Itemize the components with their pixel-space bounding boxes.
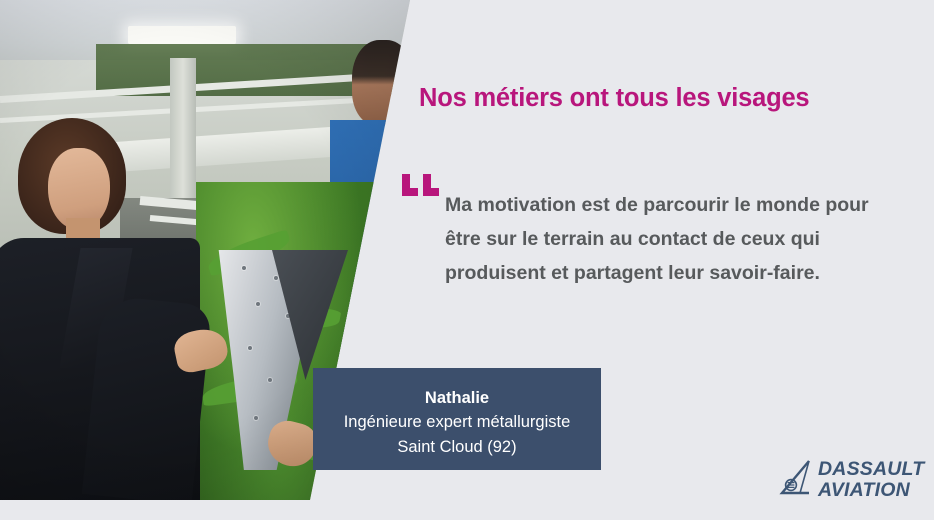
dassault-aviation-logo: DASSAULT AVIATION xyxy=(778,456,926,504)
presentation-slide: Nos métiers ont tous les visages Ma moti… xyxy=(0,0,934,520)
quote-text: Ma motivation est de parcourir le monde … xyxy=(400,188,900,290)
logo-line-dassault: DASSAULT xyxy=(818,460,924,480)
person-location: Saint Cloud (92) xyxy=(313,435,601,460)
person-name: Nathalie xyxy=(313,386,601,410)
quote-open-icon xyxy=(400,174,444,200)
dassault-delta-wing-icon xyxy=(778,460,812,500)
logo-wordmark: DASSAULT AVIATION xyxy=(818,460,924,501)
quote-block: Ma motivation est de parcourir le monde … xyxy=(400,188,900,290)
page-title: Nos métiers ont tous les visages xyxy=(419,84,919,113)
person-name-card: Nathalie Ingénieure expert métallurgiste… xyxy=(313,368,601,470)
person-role: Ingénieure expert métallurgiste xyxy=(313,410,601,435)
logo-line-aviation: AVIATION xyxy=(818,481,924,501)
